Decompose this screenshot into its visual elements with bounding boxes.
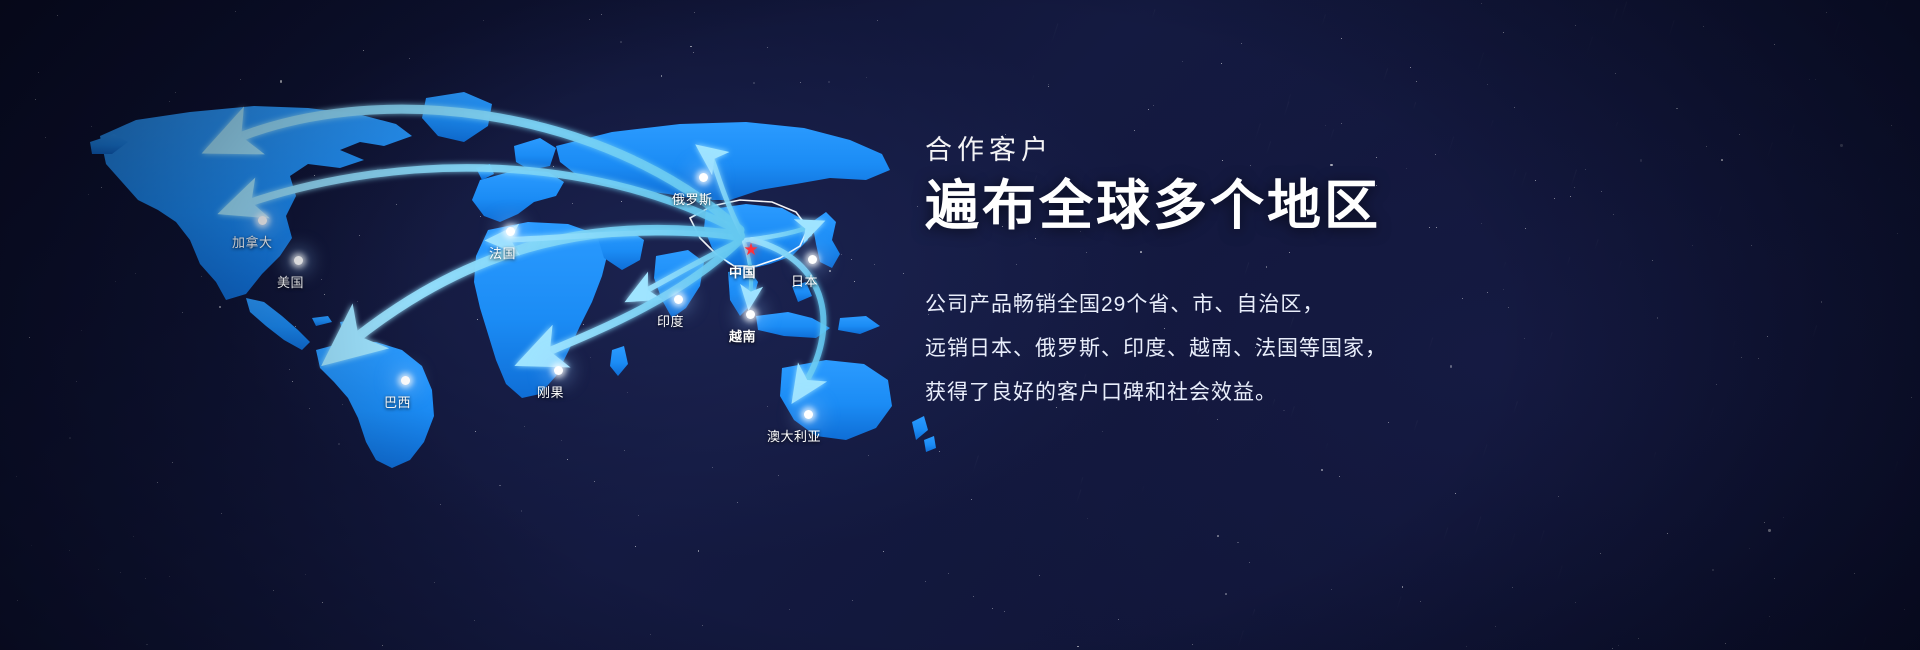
city-label: 刚果 bbox=[537, 382, 564, 401]
city-label: 中国 bbox=[729, 262, 756, 281]
city-label: 日本 bbox=[791, 271, 818, 290]
paragraph-line-3: 获得了良好的客户口碑和社会效益。 bbox=[925, 371, 1745, 415]
world-map: 加拿大美国巴西刚果法国俄罗斯印度★中国越南日本澳大利亚 bbox=[0, 0, 960, 650]
global-partners-banner: 加拿大美国巴西刚果法国俄罗斯印度★中国越南日本澳大利亚 合作客户 遍布全球多个地… bbox=[0, 0, 1920, 650]
city-dot-icon bbox=[258, 216, 267, 225]
city-label: 俄罗斯 bbox=[672, 189, 713, 208]
eyebrow-text: 合作客户 bbox=[925, 128, 1745, 167]
city-label: 澳大利亚 bbox=[767, 426, 821, 445]
city-label: 法国 bbox=[489, 243, 516, 262]
paragraph-line-2: 远销日本、俄罗斯、印度、越南、法国等国家， bbox=[925, 327, 1745, 371]
city-label: 加拿大 bbox=[232, 232, 273, 251]
paragraph-line-1: 公司产品畅销全国29个省、市、自治区， bbox=[925, 283, 1745, 327]
city-dot-icon bbox=[746, 310, 755, 319]
city-dot-icon bbox=[506, 227, 515, 236]
city-dot-icon bbox=[804, 410, 813, 419]
page-title: 遍布全球多个地区 bbox=[925, 175, 1745, 237]
city-dot-icon bbox=[294, 256, 303, 265]
copy-block: 合作客户 遍布全球多个地区 公司产品畅销全国29个省、市、自治区， 远销日本、俄… bbox=[925, 128, 1745, 415]
city-label: 越南 bbox=[729, 326, 756, 345]
city-label: 美国 bbox=[277, 272, 304, 291]
city-label: 印度 bbox=[657, 311, 684, 330]
city-label: 巴西 bbox=[384, 392, 411, 411]
city-dot-icon bbox=[554, 366, 563, 375]
city-dot-icon bbox=[808, 255, 817, 264]
city-dot-icon bbox=[401, 376, 410, 385]
china-star-icon: ★ bbox=[743, 242, 759, 258]
city-dot-icon bbox=[699, 173, 708, 182]
city-dot-icon bbox=[674, 295, 683, 304]
